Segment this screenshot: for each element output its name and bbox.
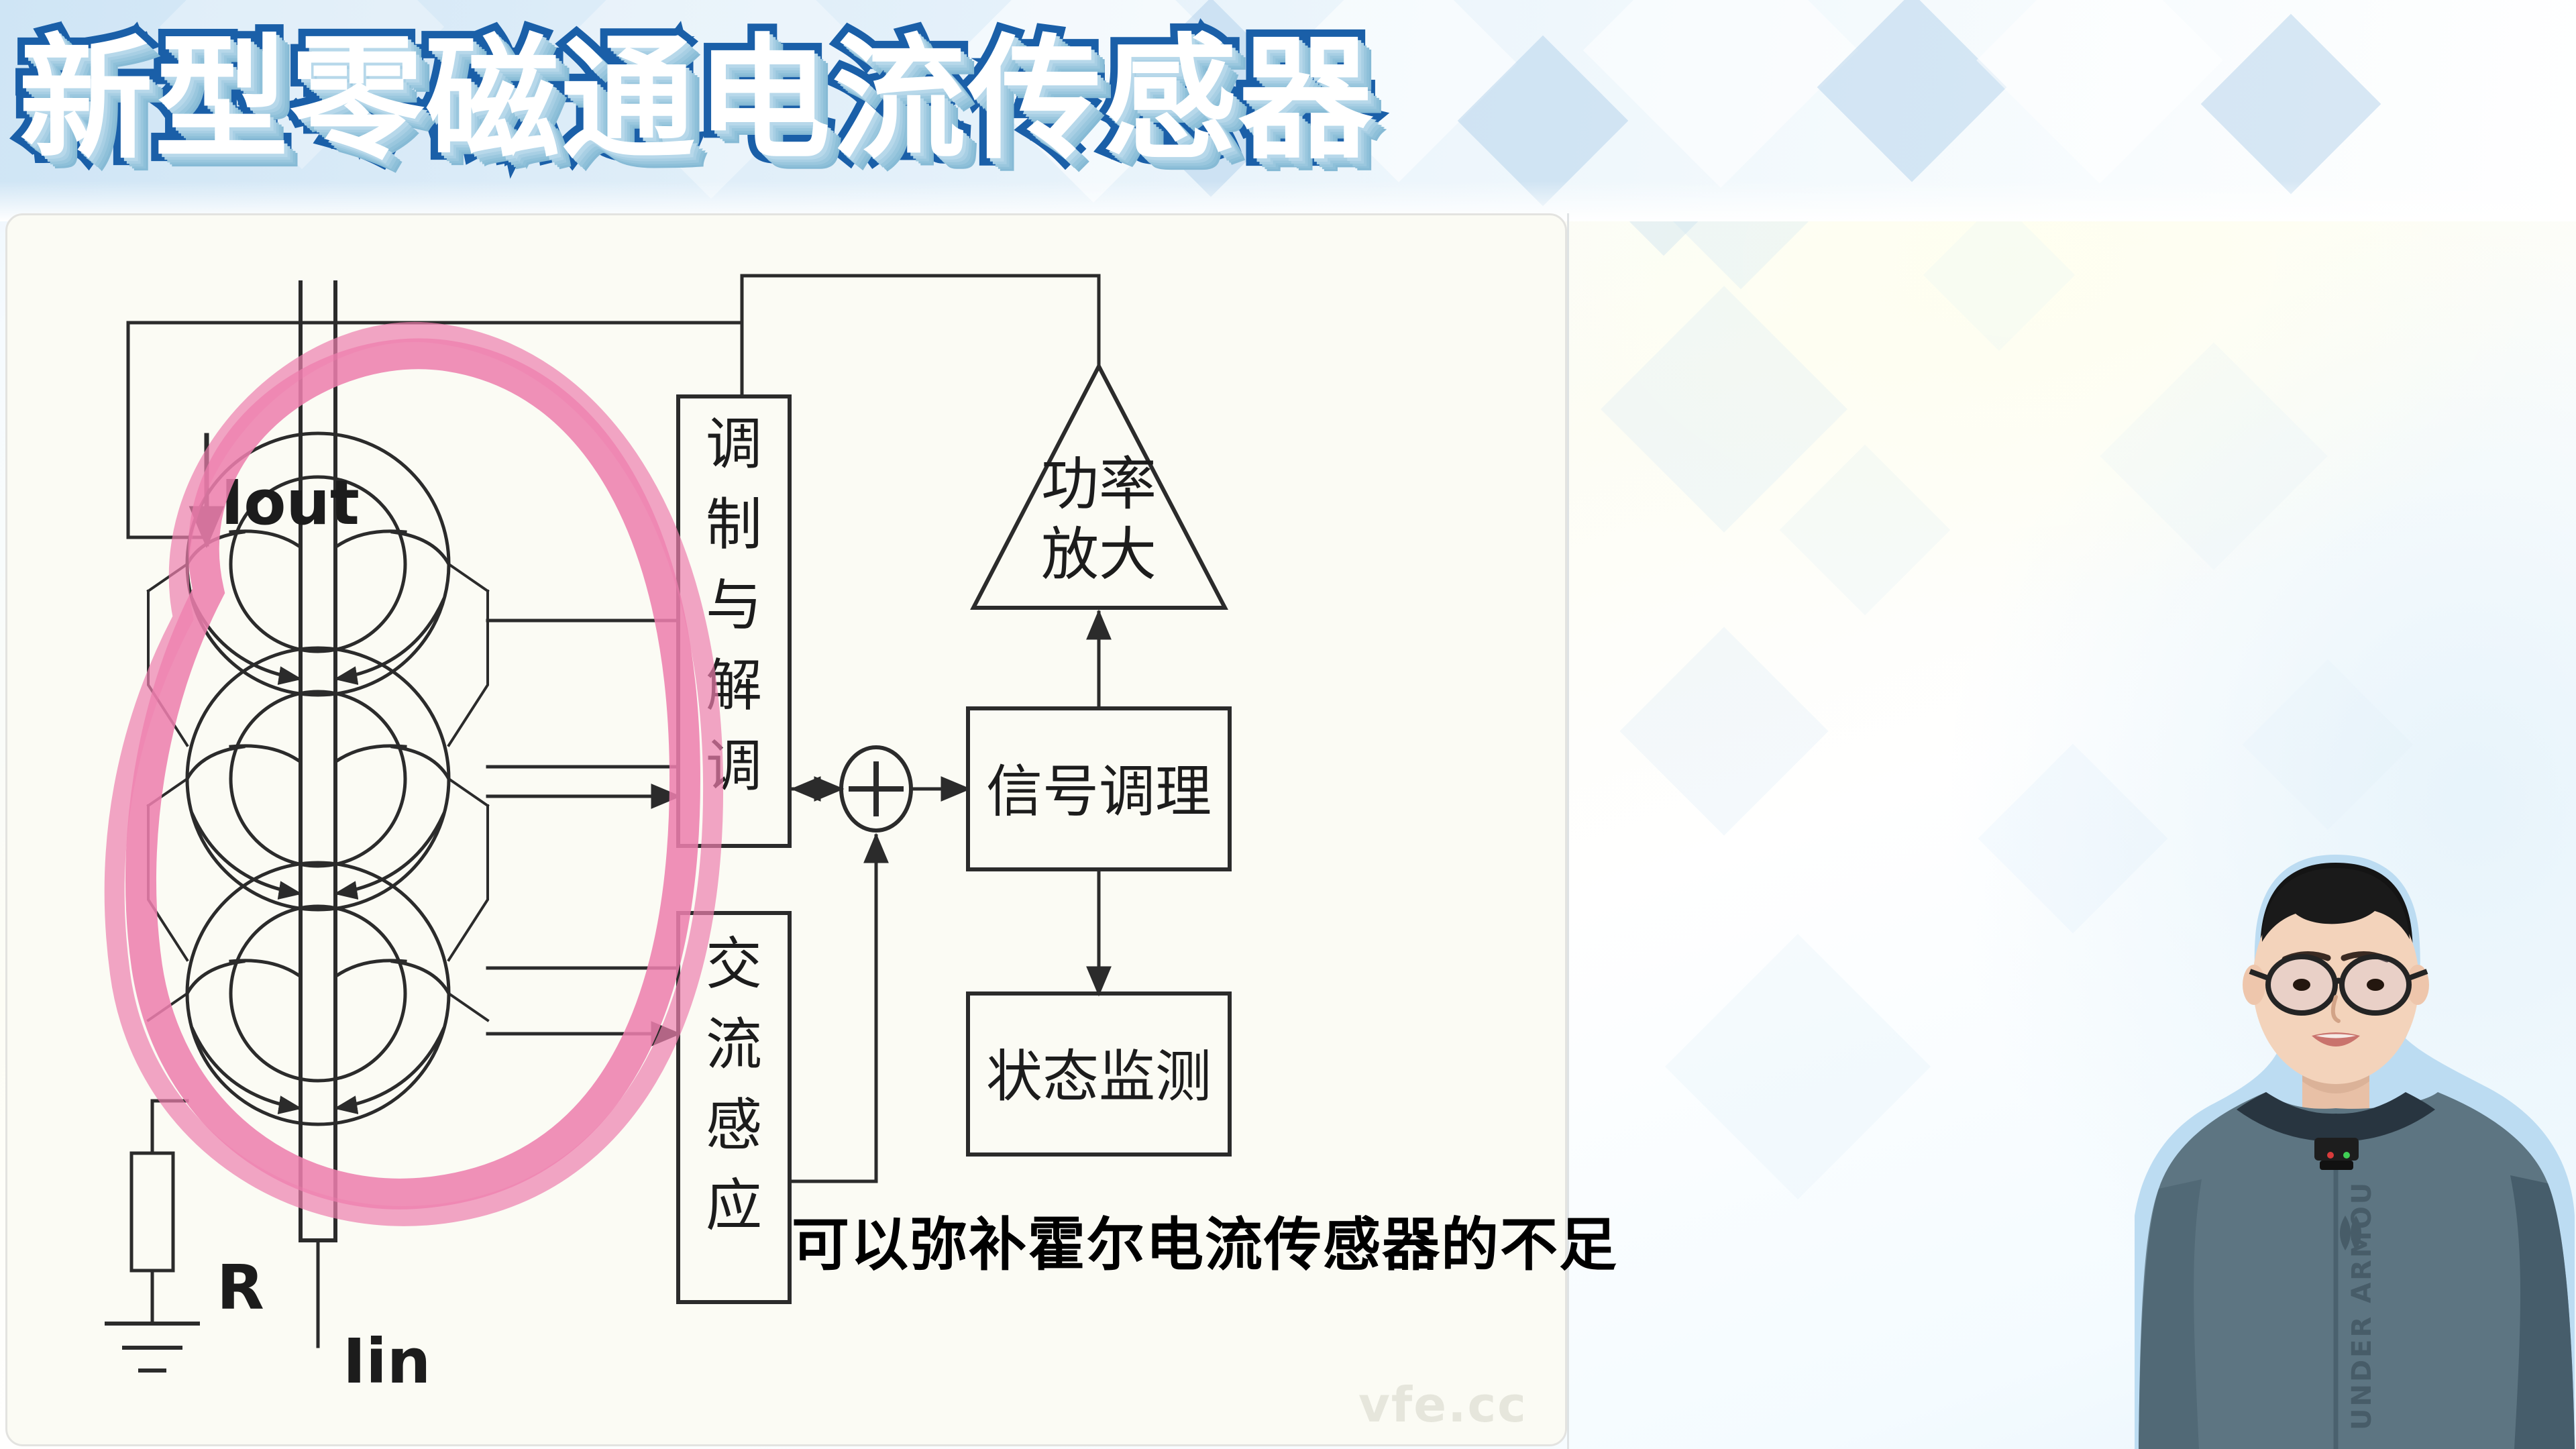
label-signal-conditioning: 信号调理 [986, 759, 1212, 824]
page-title: 新型零磁通电流传感器 [19, 33, 1374, 167]
lavalier-mic-icon [2314, 1138, 2359, 1170]
core1-core2-link-right [449, 591, 488, 745]
label-iout: Iout [221, 467, 360, 539]
presenter-eye-right [2367, 979, 2384, 991]
svg-text:放大: 放大 [1041, 521, 1157, 588]
svg-text:与: 与 [706, 572, 762, 638]
svg-text:流: 流 [706, 1012, 762, 1077]
svg-text:UNDER ARMOU: UNDER ARMOU [2347, 1181, 2377, 1430]
hoodie-brand-text: UNDER ARMOU [2347, 1181, 2377, 1430]
page-title-wrap: 新型零磁通电流传感器 [19, 9, 1374, 191]
core2-core3-link-right [449, 806, 488, 960]
shunt-resistor-body [131, 1153, 173, 1271]
svg-text:功率: 功率 [1041, 451, 1157, 518]
label-iin: Iin [343, 1326, 431, 1397]
svg-text:应: 应 [706, 1173, 762, 1238]
svg-text:交: 交 [706, 931, 762, 997]
toroid-core-2 [148, 648, 488, 910]
presenter-figure: UNDER ARMOU [2135, 840, 2576, 1449]
svg-text:制: 制 [706, 492, 762, 557]
svg-text:感: 感 [706, 1092, 762, 1158]
label-status-monitoring: 状态监测 [986, 1044, 1212, 1110]
caption-subtitle: 可以弥补霍尔电流传感器的不足 [792, 1197, 1618, 1281]
label-resistor: R [217, 1252, 264, 1324]
presenter-eye-left [2293, 979, 2310, 991]
svg-text:调: 调 [706, 411, 762, 477]
watermark: vfe.cc [1358, 1377, 1527, 1433]
